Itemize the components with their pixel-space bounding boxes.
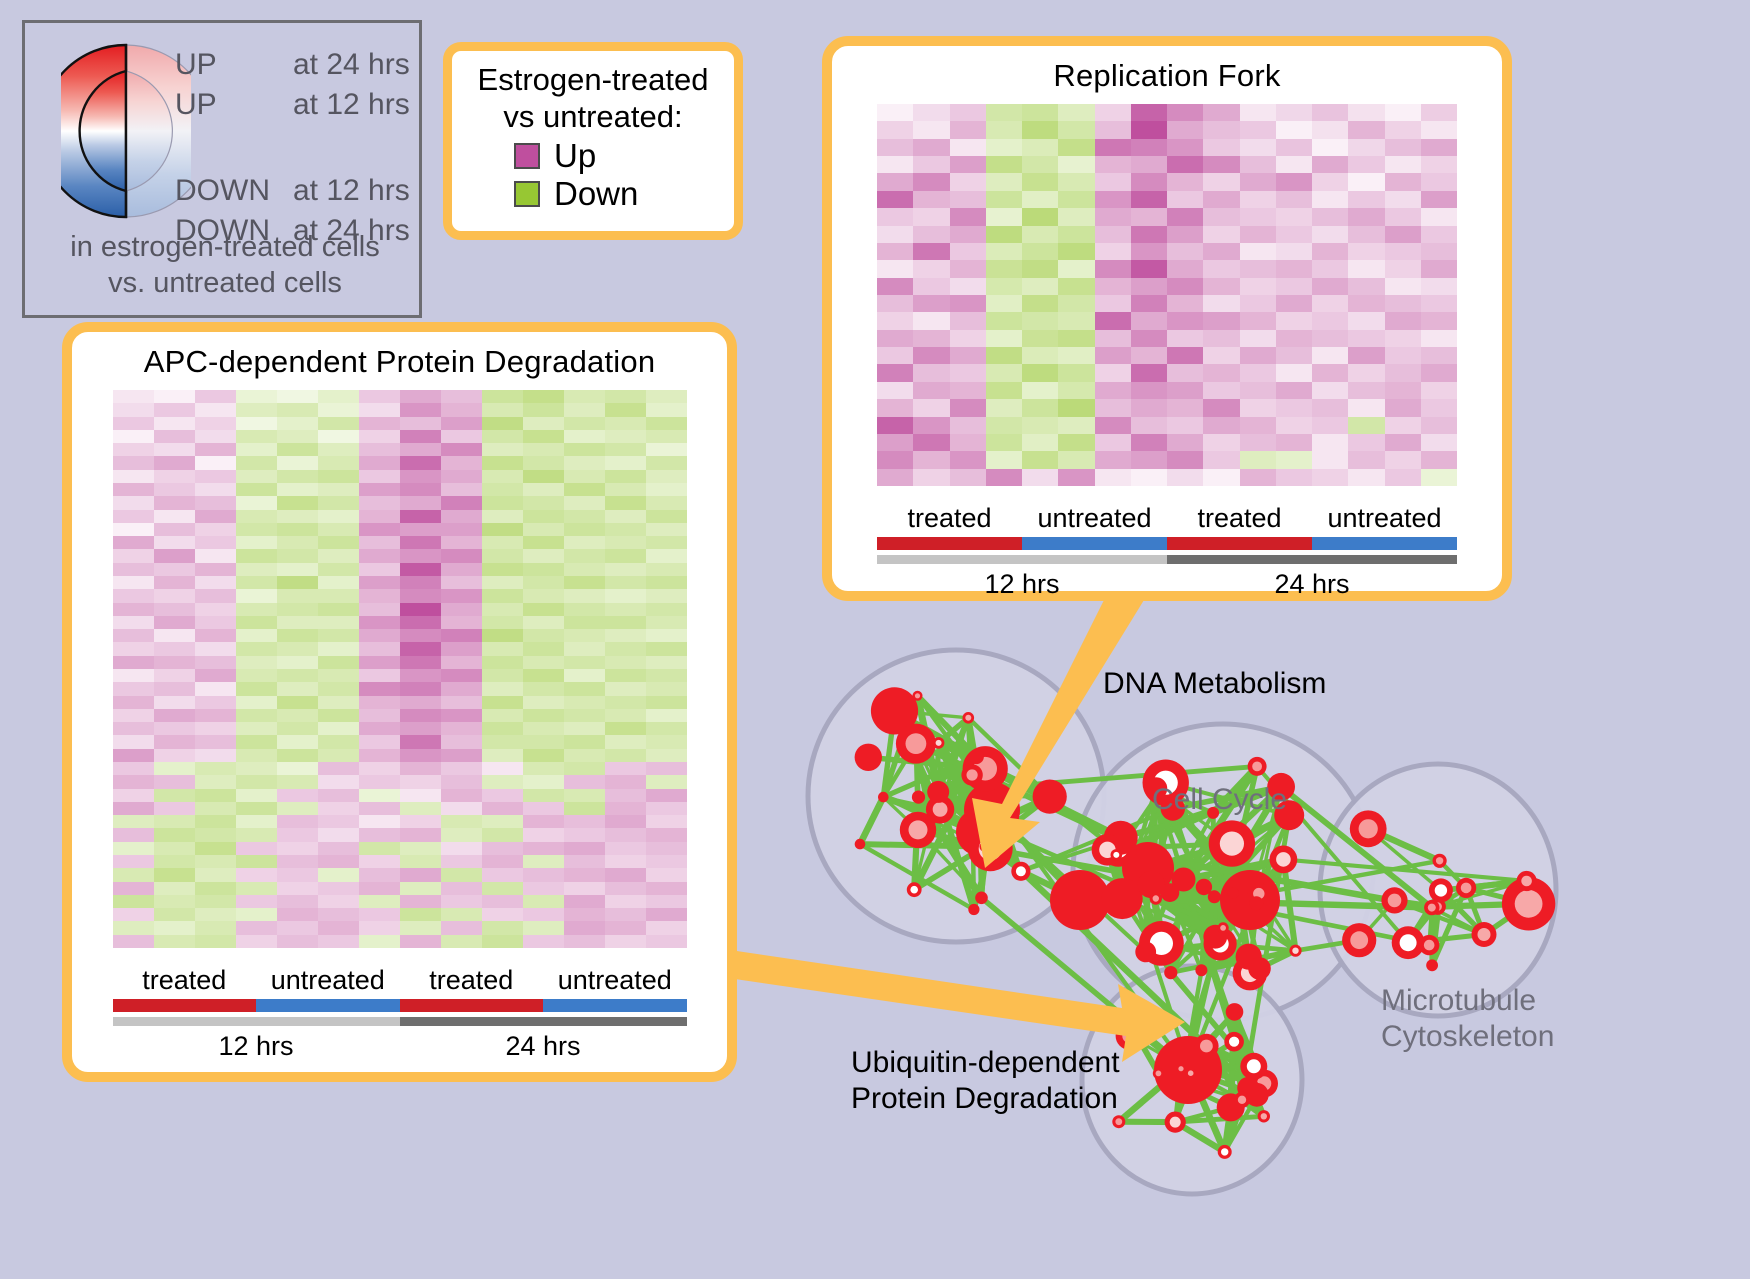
heatmap-cell [1276,364,1312,381]
heatmap-cell [154,629,195,642]
heatmap-cell [1131,121,1167,138]
heatmap-cell [913,469,949,486]
microtubule-line1: Microtubule [1381,983,1554,1019]
heatmap-cell [646,735,687,748]
heatmap-cell [441,696,482,709]
heatmap-cell [605,855,646,868]
network-node[interactable] [1228,887,1239,898]
heatmap-cell [318,629,359,642]
heatmap-cell [1312,399,1348,416]
heatmap-cell [1058,417,1094,434]
network-node[interactable] [979,842,989,852]
heatmap-cell [441,882,482,895]
heatmap-cell [1421,295,1457,312]
group-bar-segment [1312,537,1457,550]
heatmap-cell [1240,191,1276,208]
heatmap-cell [1276,399,1312,416]
network-node[interactable] [1433,854,1447,868]
network-node[interactable] [925,815,936,826]
heatmap-cell [400,456,441,469]
heatmap-cell [236,868,277,881]
network-node[interactable] [1194,1034,1218,1058]
heatmap-cell [1131,434,1167,451]
heatmap-cell [441,762,482,775]
heatmap-cell [318,483,359,496]
heatmap-cell [523,563,564,576]
heatmap-cell [1385,226,1421,243]
heatmap-cell [400,682,441,695]
legend-item-up: Up [514,139,734,173]
heatmap-cell [564,842,605,855]
heatmap-cell [1022,278,1058,295]
heatmap-cell [154,430,195,443]
network-node[interactable] [1150,892,1162,904]
heatmap-cell [1421,347,1457,364]
network-node[interactable] [1350,810,1387,847]
heatmap-cell [1240,469,1276,486]
heatmap-cell [154,616,195,629]
network-node[interactable] [907,882,922,897]
network-node[interactable] [1176,1064,1186,1074]
heatmap-cell [877,295,913,312]
heatmap-cell [113,749,154,762]
heatmap-cell [154,842,195,855]
heatmap-cell [441,470,482,483]
heatmap-cell [605,629,646,642]
heatmap-cell [1022,382,1058,399]
heatmap-cell [318,616,359,629]
heatmap-cell [482,496,523,509]
heatmap-cell [1058,312,1094,329]
heatmap-cell [877,469,913,486]
network-node[interactable] [1224,1032,1244,1052]
heatmap-cell [195,576,236,589]
heatmap-cell [359,762,400,775]
ubiquitin-line2: Protein Degradation [851,1081,1120,1117]
network-node[interactable] [975,892,988,905]
network-node[interactable] [855,744,882,771]
network-node[interactable] [878,792,889,803]
heatmap-cell [113,868,154,881]
heatmap-cell [523,895,564,908]
wheel-direction: DOWN [175,171,293,211]
panel-title: APC-dependent Protein Degradation [72,344,727,380]
heatmap-cell [1131,208,1167,225]
heatmap-cell [564,629,605,642]
heatmap-cell [564,536,605,549]
heatmap-cell [277,895,318,908]
heatmap-cell [154,589,195,602]
heatmap-cell [441,483,482,496]
heatmap-cell [605,789,646,802]
heatmap-cell [400,390,441,403]
heatmap-cell [950,139,986,156]
time-labels: 12 hrs 24 hrs [877,568,1457,600]
network-node[interactable] [1050,870,1110,930]
network-node[interactable] [1185,1068,1196,1079]
network-node[interactable] [912,791,925,804]
heatmap-cell [113,549,154,562]
heatmap-cell [523,722,564,735]
network-node[interactable] [1426,959,1438,971]
heatmap-cell [605,842,646,855]
heatmap-cell [236,616,277,629]
heatmap-cell [877,330,913,347]
heatmap-cell [318,523,359,536]
heatmap-cell [986,312,1022,329]
heatmap-cell [913,156,949,173]
group-labels: treated untreated treated untreated [877,502,1457,534]
heatmap-cell [1348,399,1384,416]
network-node[interactable] [991,815,1003,827]
heatmap-cell [646,576,687,589]
wheel-row: UP at 12 hrs [175,85,415,125]
network-node[interactable] [1226,1003,1244,1021]
heatmap-cell [318,456,359,469]
heatmap-cell [1131,330,1167,347]
heatmap-cell [564,828,605,841]
network-node[interactable] [1195,964,1207,976]
network-node[interactable] [1258,1110,1270,1122]
heatmap-cell [564,696,605,709]
heatmap-cell [154,921,195,934]
heatmap-cell [564,656,605,669]
heatmap-cell [646,775,687,788]
network-node[interactable] [1102,878,1143,919]
heatmap-cell [1421,451,1457,468]
heatmap-cell [564,735,605,748]
group-label: treated [113,964,257,996]
group-bar-segment [400,999,544,1012]
heatmap-cell [1385,121,1421,138]
heatmap-cell [441,669,482,682]
network-node[interactable] [927,781,949,803]
network-node[interactable] [1248,957,1271,980]
network-node[interactable] [933,737,945,749]
heatmap-cell [236,935,277,948]
network-node[interactable] [969,749,984,764]
network-node[interactable] [1161,883,1180,902]
heatmap-cell [400,696,441,709]
heatmap-cell [950,243,986,260]
heatmap-cell [482,895,523,908]
heatmap-cell [482,629,523,642]
heatmap-cell [564,709,605,722]
network-node[interactable] [1112,1115,1125,1128]
heatmap-cell [605,616,646,629]
heatmap-cell [318,682,359,695]
network-node[interactable] [968,904,979,915]
network-node[interactable] [913,691,923,701]
heatmap-cell [195,523,236,536]
heatmap-cell [154,735,195,748]
heatmap-cell [1385,139,1421,156]
heatmap-cell [113,669,154,682]
heatmap-cell [605,510,646,523]
network-node[interactable] [1218,922,1229,933]
heatmap-cell [1167,208,1203,225]
heatmap-cell [1095,382,1131,399]
network-node[interactable] [1270,846,1298,874]
heatmap-cell [1276,417,1312,434]
heatmap-cell [318,669,359,682]
heatmap-cell [277,417,318,430]
heatmap-cell [913,139,949,156]
heatmap-cell [441,855,482,868]
heatmap-cell [1276,451,1312,468]
heatmap-cell [236,895,277,908]
heatmap-cell [1058,295,1094,312]
heatmap-cell [646,430,687,443]
network-node[interactable] [1249,896,1263,910]
heatmap-cell [482,709,523,722]
network-node[interactable] [1342,923,1376,957]
heatmap-cell [1276,278,1312,295]
network-node[interactable] [1111,849,1123,861]
heatmap-cell [523,709,564,722]
heatmap-cell [1167,330,1203,347]
heatmap-cell [113,417,154,430]
heatmap-cell [523,735,564,748]
heatmap-cell [1203,243,1239,260]
network-node[interactable] [1033,780,1067,814]
network-node[interactable] [1153,1068,1164,1079]
network-node[interactable] [963,712,975,724]
network-node[interactable] [1208,890,1221,903]
heatmap-cell [359,775,400,788]
heatmap-cell [1131,104,1167,121]
heatmap-cell [359,510,400,523]
heatmap-cell [1095,295,1131,312]
heatmap-cell [236,669,277,682]
heatmap-cell [1022,260,1058,277]
heatmap-cell [113,895,154,908]
heatmap-cell [195,855,236,868]
heatmap-cell [277,523,318,536]
heatmap-cell [1095,278,1131,295]
heatmap-cell [482,536,523,549]
heatmap-axis-replication-fork: treated untreated treated untreated 12 h… [877,502,1457,600]
heatmap-cell [318,935,359,948]
heatmap-cell [318,403,359,416]
network-node[interactable] [1011,862,1030,881]
network-node[interactable] [1424,900,1439,915]
cluster-label-ubiquitin-degradation: Ubiquitin-dependent Protein Degradation [851,1045,1120,1117]
network-node[interactable] [1472,922,1497,947]
heatmap-cell [1022,173,1058,190]
heatmap-cell [318,642,359,655]
heatmap-cell [1058,173,1094,190]
network-node[interactable] [961,764,982,785]
heatmap-cell [195,483,236,496]
heatmap-cell [441,749,482,762]
heatmap-axis-apc-dependent: treated untreated treated untreated 12 h… [113,964,687,1062]
time-label: 12 hrs [877,568,1167,600]
wheel-direction: UP [175,85,293,125]
network-node[interactable] [1126,1021,1136,1031]
heatmap-cell [1203,312,1239,329]
heatmap-cell [1203,156,1239,173]
group-color-bar [113,999,687,1012]
heatmap-cell [523,855,564,868]
heatmap-cell [318,828,359,841]
network-node[interactable] [1209,820,1255,866]
heatmap-cell [1240,364,1276,381]
heatmap-cell [400,417,441,430]
heatmap-cell [564,430,605,443]
heatmap-cell [1348,347,1384,364]
network-node[interactable] [1456,878,1476,898]
heatmap-cell [913,364,949,381]
heatmap-cell [277,722,318,735]
heatmap-cell [113,443,154,456]
heatmap-cell [113,908,154,921]
heatmap-cell [1203,451,1239,468]
heatmap-cell [1167,121,1203,138]
heatmap-cell [523,935,564,948]
heatmap-cell [318,417,359,430]
heatmap-cell [195,868,236,881]
heatmap-cell [1348,191,1384,208]
heatmap-cell [441,642,482,655]
heatmap-cell [1058,156,1094,173]
heatmap-cell [1348,434,1384,451]
heatmap-cell [1203,364,1239,381]
heatmap-cell [1240,347,1276,364]
network-node[interactable] [1218,1145,1232,1159]
heatmap-cell [359,908,400,921]
network-node[interactable] [1248,757,1267,776]
heatmap-cell [1022,243,1058,260]
network-node[interactable] [1429,878,1453,902]
heatmap-cell [1022,226,1058,243]
heatmap-cell [1095,417,1131,434]
group-color-bar [877,537,1457,550]
heatmap-cell [318,470,359,483]
network-node[interactable] [855,839,866,850]
heatmap-cell [605,908,646,921]
heatmap-cell [441,563,482,576]
heatmap-cell [986,173,1022,190]
heatmap-cell [236,908,277,921]
heatmap-cell [523,403,564,416]
heatmap-cell [441,868,482,881]
heatmap-cell [1348,139,1384,156]
heatmap-cell [1421,469,1457,486]
heatmap-cell [441,443,482,456]
heatmap-cell [482,563,523,576]
heatmap-cell [236,842,277,855]
network-node[interactable] [1240,1053,1267,1080]
network-node[interactable] [1381,887,1407,913]
network-node[interactable] [1164,966,1177,979]
network-node[interactable] [896,724,936,764]
heatmap-cell [564,496,605,509]
heatmap-cell [195,775,236,788]
network-node[interactable] [1517,871,1537,891]
heatmap-cell [605,642,646,655]
heatmap-cell [154,549,195,562]
heatmap-cell [482,722,523,735]
heatmap-cell [236,403,277,416]
heatmap-cell [318,430,359,443]
heatmap-cell [605,430,646,443]
heatmap-cell [1131,278,1167,295]
heatmap-cell [277,642,318,655]
heatmap-cell [1385,243,1421,260]
heatmap-cell [113,629,154,642]
heatmap-cell [646,855,687,868]
heatmap-apc-dependent [113,390,687,948]
time-bar-segment [113,1017,400,1026]
heatmap-cell [523,642,564,655]
heatmap-cell [318,496,359,509]
heatmap-cell [1167,156,1203,173]
network-node[interactable] [1419,935,1439,955]
color-wheel-graphic [61,41,191,221]
heatmap-cell [523,456,564,469]
heatmap-cell [1385,451,1421,468]
heatmap-cell [154,390,195,403]
heatmap-cell [564,616,605,629]
heatmap-cell [441,496,482,509]
heatmap-cell [482,749,523,762]
network-node[interactable] [1289,945,1301,957]
heatmap-cell [1385,382,1421,399]
heatmap-cell [1312,104,1348,121]
network-node[interactable] [1234,1092,1250,1108]
heatmap-cell [195,696,236,709]
heatmap-cell [564,762,605,775]
heatmap-cell [195,895,236,908]
heatmap-cell [523,576,564,589]
heatmap-cell [400,536,441,549]
heatmap-cell [1240,208,1276,225]
heatmap-cell [154,908,195,921]
heatmap-cell [1348,312,1384,329]
heatmap-cell [986,226,1022,243]
heatmap-cell [359,616,400,629]
heatmap-cell [236,722,277,735]
heatmap-cell [113,563,154,576]
heatmap-cell [236,802,277,815]
heatmap-cell [318,603,359,616]
heatmap-cell [1167,173,1203,190]
heatmap-cell [1312,260,1348,277]
heatmap-cell [605,709,646,722]
heatmap-cell [359,549,400,562]
heatmap-cell [195,430,236,443]
heatmap-cell [564,390,605,403]
heatmap-cell [195,656,236,669]
heatmap-cell [605,722,646,735]
heatmap-cell [1240,139,1276,156]
heatmap-cell [1058,434,1094,451]
heatmap-cell [1421,417,1457,434]
heatmap-cell [1167,417,1203,434]
heatmap-cell [564,443,605,456]
heatmap-cell [277,762,318,775]
heatmap-cell [1095,260,1131,277]
network-node[interactable] [1135,942,1156,963]
heatmap-cell [1167,469,1203,486]
heatmap-cell [359,456,400,469]
heatmap-cell [1385,469,1421,486]
heatmap-cell [277,921,318,934]
heatmap-cell [277,882,318,895]
heatmap-cell [400,762,441,775]
network-node[interactable] [1165,1112,1186,1133]
